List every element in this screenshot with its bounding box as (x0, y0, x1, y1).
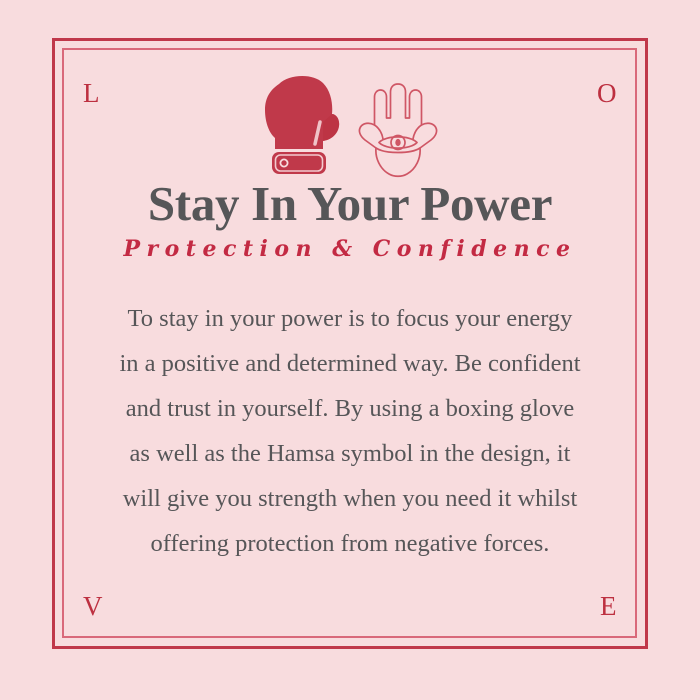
boxing-glove-icon (259, 70, 341, 178)
corner-letter-bottom-left: V (83, 593, 103, 620)
body-line: offering protection from negative forces… (78, 521, 622, 566)
page-subtitle: Protection & Confidence (0, 236, 700, 262)
corner-letter-bottom-right: E (600, 593, 617, 620)
body-line: and trust in yourself. By using a boxing… (78, 386, 622, 431)
hamsa-hand-icon (355, 78, 441, 178)
body-line: in a positive and determined way. Be con… (78, 341, 622, 386)
body-line: To stay in your power is to focus your e… (78, 296, 622, 341)
page-title: Stay In Your Power (0, 178, 700, 230)
body-line: as well as the Hamsa symbol in the desig… (78, 431, 622, 476)
poster-card: L O V E Stay In Your Power Protection & … (0, 0, 700, 700)
title-block: Stay In Your Power Protection & Confiden… (0, 178, 700, 262)
icon-row (0, 66, 700, 178)
body-line: will give you strength when you need it … (78, 476, 622, 521)
body-copy: To stay in your power is to focus your e… (78, 296, 622, 566)
